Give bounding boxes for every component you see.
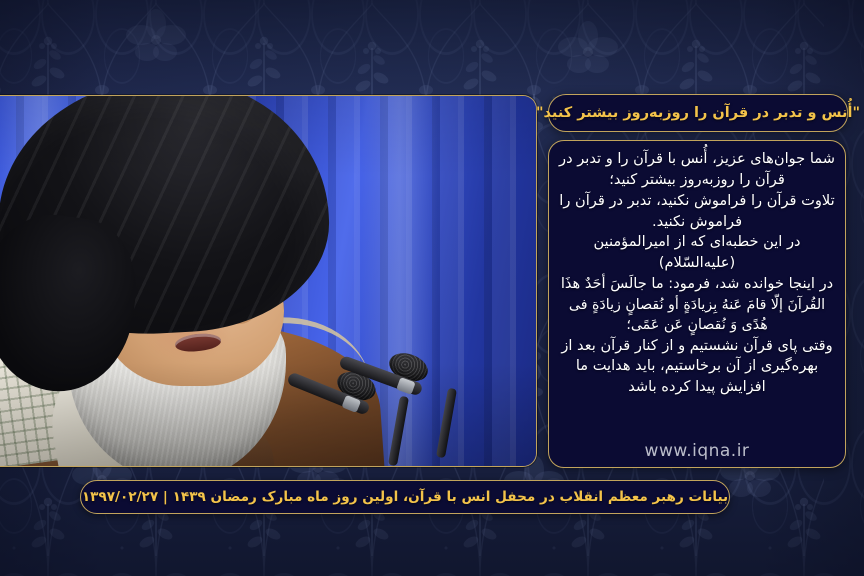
quote-line: تلاوت قرآن را فراموش نکنید، تدبر در قرآن… [559,191,835,212]
card-canvas: "أُنس و تدبر در قرآن را روزبه‌روز بیشتر … [0,0,864,576]
quote-line: افزایش پیدا کرده باشد [559,377,835,398]
speaker-figure [0,96,536,466]
quote-line: در اینجا خوانده شد، فرمود: ما جالَسَ أحَ… [559,274,835,295]
microphone-stand-b [436,388,457,458]
speaker-photo [0,95,537,467]
quote-line: قرآن را روزبه‌روز بیشتر کنید؛ [559,170,835,191]
quote-text: شما جوان‌های عزیز، أُنس با قرآن را و تدب… [559,149,835,398]
headline-text: "أُنس و تدبر در قرآن را روزبه‌روز بیشتر … [536,105,860,121]
quote-line: فراموش نکنید. [559,212,835,233]
quote-line: شما جوان‌های عزیز، أُنس با قرآن را و تدب… [559,149,835,170]
caption-bar: بیانات رهبر معظم انقلاب در محفل انس با ق… [80,480,730,514]
headline-panel: "أُنس و تدبر در قرآن را روزبه‌روز بیشتر … [548,94,848,132]
quote-panel: شما جوان‌های عزیز، أُنس با قرآن را و تدب… [548,140,846,468]
microphone-stand-a [388,396,409,466]
caption-text: بیانات رهبر معظم انقلاب در محفل انس با ق… [82,489,728,505]
quote-line-arabic: القُرآنَ إلّا قامَ عَنهُ بِزیادَةٍ أو نُ… [559,295,835,315]
quote-line-arabic: هُدًی وَ نُقصانٍ عَن عَمًی؛ [559,315,835,335]
quote-line: وقتی پای قرآن نشستیم و از کنار قرآن بعد … [559,336,835,357]
site-watermark[interactable]: www.iqna.ir [559,441,835,463]
quote-line: در این خطبه‌ای که از امیرالمؤمنین (علیه‌… [559,232,835,274]
quote-line: بهره‌گیری از آن برخاستیم، باید هدایت ما [559,356,835,377]
